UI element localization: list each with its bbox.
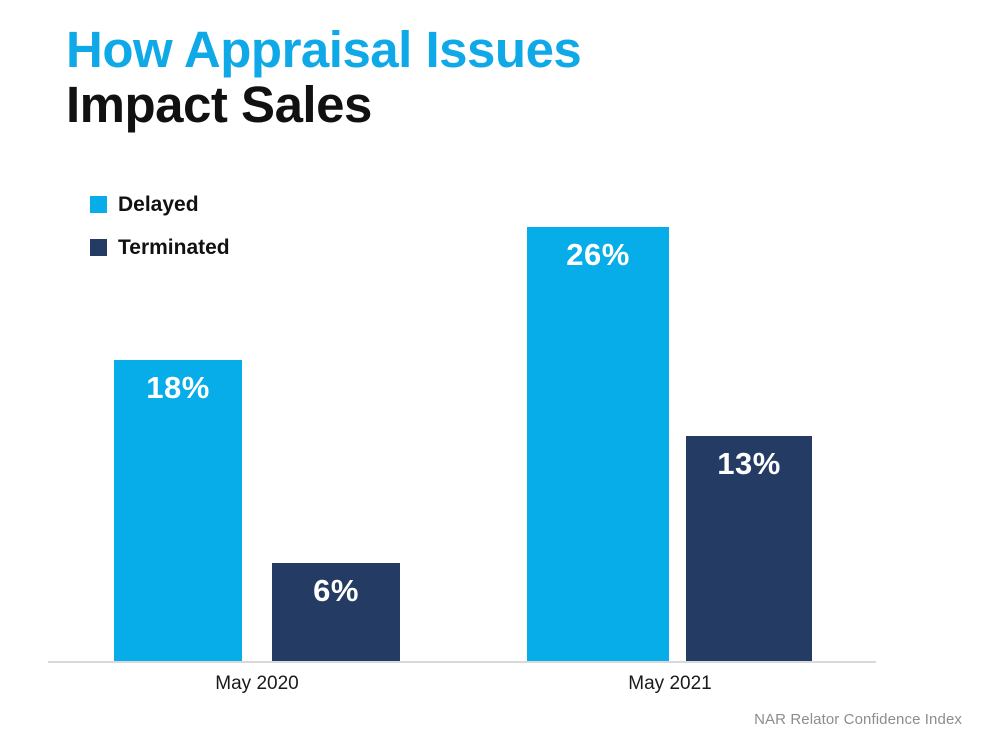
appraisal-issues-infographic: How Appraisal Issues Impact Sales Delaye…	[0, 0, 1000, 750]
bar-may-2021-delayed: 26%	[527, 227, 669, 661]
x-axis-category-label: May 2020	[152, 673, 362, 696]
bar-may-2020-delayed: 18%	[114, 360, 242, 661]
bar-value-label: 6%	[272, 574, 400, 608]
bar-chart-plot-area: 18%6%26%13% May 2020May 2021	[0, 0, 1000, 750]
bar-value-label: 26%	[527, 238, 669, 272]
bar-value-label: 13%	[686, 447, 812, 481]
bar-may-2021-terminated: 13%	[686, 436, 812, 661]
bar-may-2020-terminated: 6%	[272, 563, 400, 661]
source-attribution: NAR Relator Confidence Index	[754, 711, 962, 728]
bar-value-label: 18%	[114, 371, 242, 405]
x-axis-category-label: May 2021	[565, 673, 775, 696]
x-axis-line	[48, 661, 876, 663]
